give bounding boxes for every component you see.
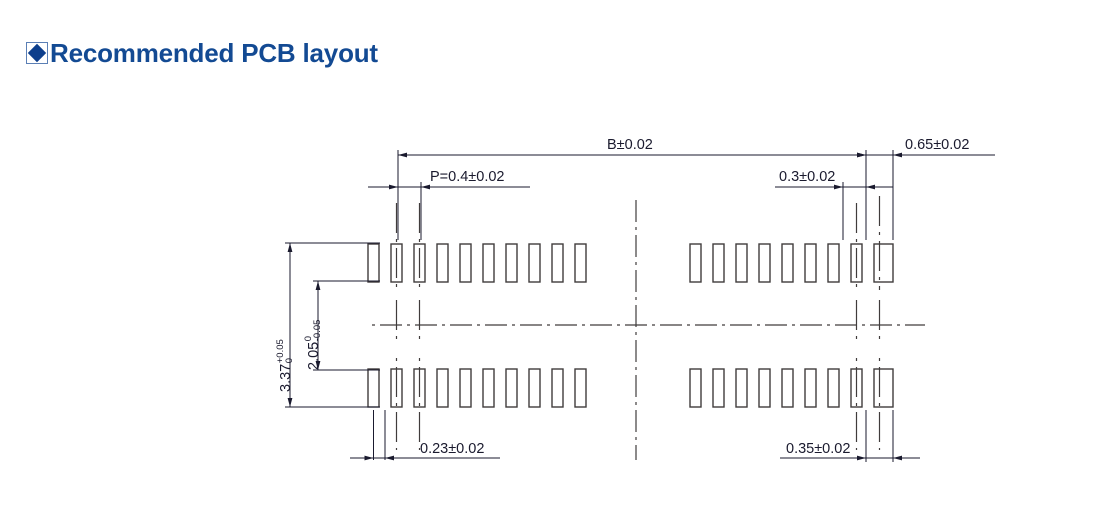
pad <box>437 369 448 407</box>
tolerance-lower: -0.05 <box>313 320 323 342</box>
pad <box>736 369 747 407</box>
dim-value: 3.37 <box>278 364 294 392</box>
tolerance-stack: +0.050 <box>276 339 296 363</box>
pad <box>805 369 816 407</box>
pad <box>506 369 517 407</box>
pcb-layout-drawing <box>0 0 1099 508</box>
pad <box>828 244 839 282</box>
centerlines <box>372 196 925 460</box>
pad <box>759 244 770 282</box>
pad <box>690 369 701 407</box>
dim-label-end-pad-width: 0.35±0.02 <box>786 442 850 457</box>
dim-label-overall-width: B±0.02 <box>607 138 653 153</box>
pad <box>483 369 494 407</box>
dim-value: 2.05 <box>306 342 322 370</box>
pad <box>552 244 563 282</box>
extension-lines <box>285 150 893 462</box>
dim-label-right-inner: 0.3±0.02 <box>779 170 835 185</box>
dim-label-pad-width: 0.23±0.02 <box>420 442 484 457</box>
pad <box>506 244 517 282</box>
pad <box>529 369 540 407</box>
pad <box>552 369 563 407</box>
pad <box>575 244 586 282</box>
end-pad <box>874 244 893 282</box>
pad <box>805 244 816 282</box>
pad <box>437 244 448 282</box>
pad-row-bottom <box>368 369 893 407</box>
pad <box>575 369 586 407</box>
dim-label-right-outer: 0.65±0.02 <box>905 138 969 153</box>
pad <box>782 369 793 407</box>
pad <box>759 369 770 407</box>
pad <box>713 244 724 282</box>
pad <box>460 244 471 282</box>
pad <box>782 244 793 282</box>
pad <box>828 369 839 407</box>
pad-row-top <box>368 244 893 282</box>
pad <box>690 244 701 282</box>
dimension-lines <box>290 155 995 458</box>
pad <box>368 244 379 282</box>
dim-label-overall-height: 3.37+0.050 <box>276 339 296 392</box>
dim-label-inner-height: 2.050-0.05 <box>304 320 324 370</box>
pad <box>368 369 379 407</box>
pad <box>460 369 471 407</box>
pad <box>736 244 747 282</box>
tolerance-stack: 0-0.05 <box>304 320 324 342</box>
pad <box>529 244 540 282</box>
dim-label-pitch: P=0.4±0.02 <box>430 170 504 185</box>
pad <box>483 244 494 282</box>
pad <box>713 369 724 407</box>
tolerance-lower: 0 <box>285 339 295 363</box>
end-pad <box>874 369 893 407</box>
